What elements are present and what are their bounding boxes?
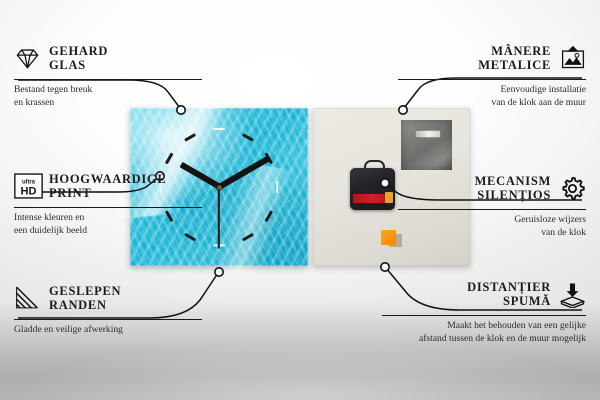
feature-title: MÂNEREMETALICE: [478, 44, 551, 72]
clock-center-pin: [217, 185, 222, 190]
picture-frame-icon: [559, 45, 586, 72]
feature-manere-metalice: MÂNEREMETALICE Eenvoudige installatievan…: [398, 38, 586, 109]
diamond-icon: [14, 45, 41, 72]
svg-text:ultra: ultra: [22, 179, 36, 185]
feature-title: DISTANȚIERSPUMĂ: [467, 280, 551, 308]
divider: [398, 209, 586, 210]
battery-terminal: [385, 192, 393, 203]
second-hand: [218, 187, 220, 249]
feature-title: GESLEPENRANDEN: [49, 284, 121, 312]
minute-hand: [218, 156, 271, 190]
divider: [14, 319, 202, 320]
feature-title: HOOGWAARDIGEPRINT: [49, 172, 166, 200]
feature-description: Intense kleuren eneen duidelijk beeld: [14, 212, 202, 237]
metal-hanger-plate: [401, 120, 452, 170]
foam-spacer: [381, 230, 396, 245]
feature-title: GEHARDGLAS: [49, 44, 108, 72]
divider: [14, 79, 202, 80]
divider: [14, 207, 202, 208]
ultra-hd-icon: ultra HD: [14, 173, 41, 200]
svg-text:HD: HD: [20, 185, 36, 197]
feature-description: Bestand tegen breuken krassen: [14, 84, 202, 109]
feature-description: Gladde en veilige afwerking: [14, 324, 202, 336]
feature-description: Eenvoudige installatievan de klok aan de…: [398, 84, 586, 109]
feature-hoogwaardige-print: ultra HD HOOGWAARDIGEPRINT Intense kleur…: [14, 166, 202, 237]
feature-description: Maakt het behouden van een gelijkeafstan…: [382, 320, 586, 345]
product-infographic: GEHARDGLAS Bestand tegen breuken krassen…: [0, 0, 600, 400]
feature-geslepen-randen: GESLEPENRANDEN Gladde en veilige afwerki…: [14, 278, 202, 337]
feature-title: MECANISMSILENȚIOS: [475, 174, 551, 202]
foam-spacer-arrow-icon: [559, 281, 586, 308]
feature-gehard-glas: GEHARDGLAS Bestand tegen breuken krassen: [14, 38, 202, 109]
hanger-slot: [415, 130, 441, 138]
feature-description: Geruisloze wijzersvan de klok: [398, 214, 586, 239]
divider: [382, 315, 586, 316]
bevelled-edge-icon: [14, 285, 41, 312]
feature-mecanism-silentios: MECANISMSILENȚIOS Geruisloze wijzersvan …: [398, 168, 586, 239]
silent-clock-mechanism: [350, 168, 395, 210]
gear-icon: [559, 175, 586, 202]
feature-distantier-spuma: DISTANȚIERSPUMĂ Maakt het behouden van e…: [382, 274, 586, 345]
divider: [398, 79, 586, 80]
